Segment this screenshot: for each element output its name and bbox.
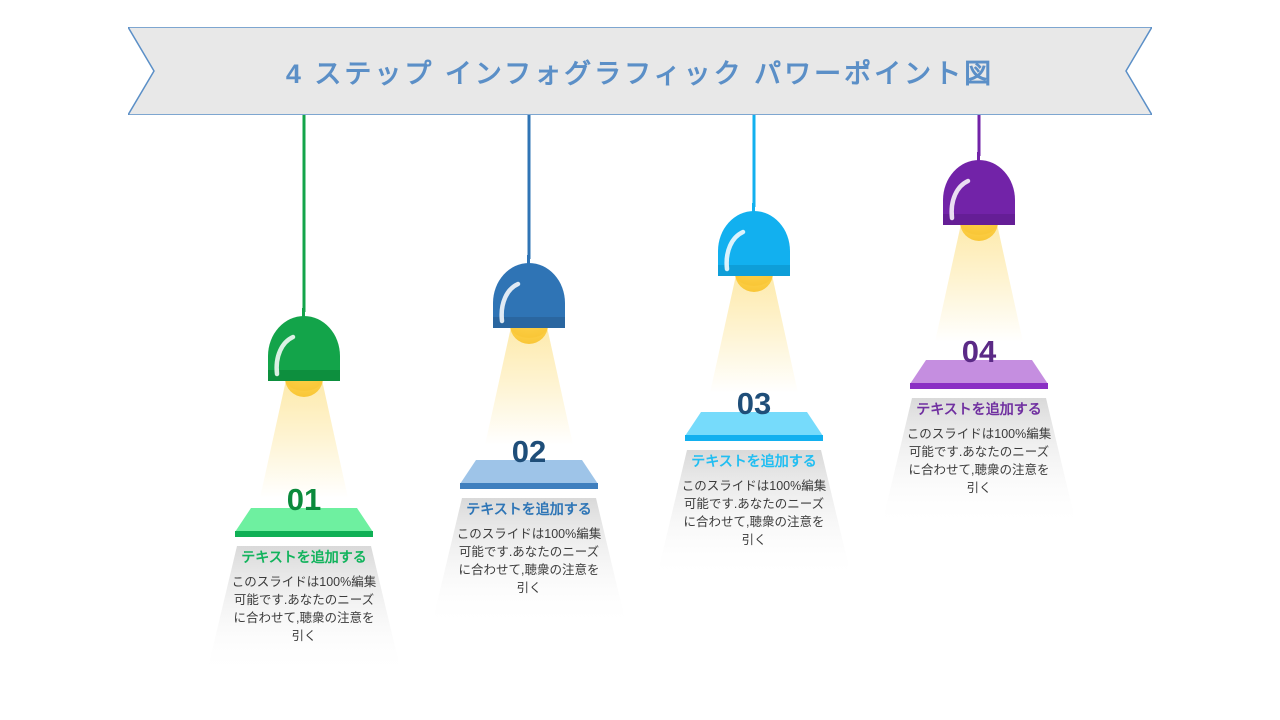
step-content: 01テキストを追加するこのスライドは100%編集可能です.あなたのニーズに合わせ… bbox=[189, 484, 419, 645]
step-content: 04テキストを追加するこのスライドは100%編集可能です.あなたのニーズに合わせ… bbox=[864, 336, 1094, 497]
step-title: テキストを追加する bbox=[229, 548, 379, 567]
step-content: 03テキストを追加するこのスライドは100%編集可能です.あなたのニーズに合わせ… bbox=[639, 388, 869, 549]
step-body-text: このスライドは100%編集可能です.あなたのニーズに合わせて,聴衆の注意を引く bbox=[903, 425, 1055, 498]
step-title: テキストを追加する bbox=[904, 400, 1054, 419]
lamp-cord bbox=[303, 115, 306, 312]
step-body-text: このスライドは100%編集可能です.あなたのニーズに合わせて,聴衆の注意を引く bbox=[228, 573, 380, 646]
title-banner: 4 ステップ インフォグラフィック パワーポイント図 bbox=[128, 27, 1152, 115]
lamp-cord bbox=[528, 115, 531, 259]
step-number: 02 bbox=[414, 436, 644, 467]
lamp-cord bbox=[978, 115, 981, 156]
pendant-lamp-icon bbox=[694, 203, 814, 413]
step-number: 04 bbox=[864, 336, 1094, 367]
pendant-lamp-icon bbox=[919, 152, 1039, 362]
step-number: 03 bbox=[639, 388, 869, 419]
step-content: 02テキストを追加するこのスライドは100%編集可能です.あなたのニーズに合わせ… bbox=[414, 436, 644, 597]
step-body-text: このスライドは100%編集可能です.あなたのニーズに合わせて,聴衆の注意を引く bbox=[453, 525, 605, 598]
step-title: テキストを追加する bbox=[679, 452, 829, 471]
lamp-cord bbox=[753, 115, 756, 207]
step-number: 01 bbox=[189, 484, 419, 515]
step-body-text: このスライドは100%編集可能です.あなたのニーズに合わせて,聴衆の注意を引く bbox=[678, 477, 830, 550]
page-title: 4 ステップ インフォグラフィック パワーポイント図 bbox=[128, 27, 1152, 115]
step-title: テキストを追加する bbox=[454, 500, 604, 519]
